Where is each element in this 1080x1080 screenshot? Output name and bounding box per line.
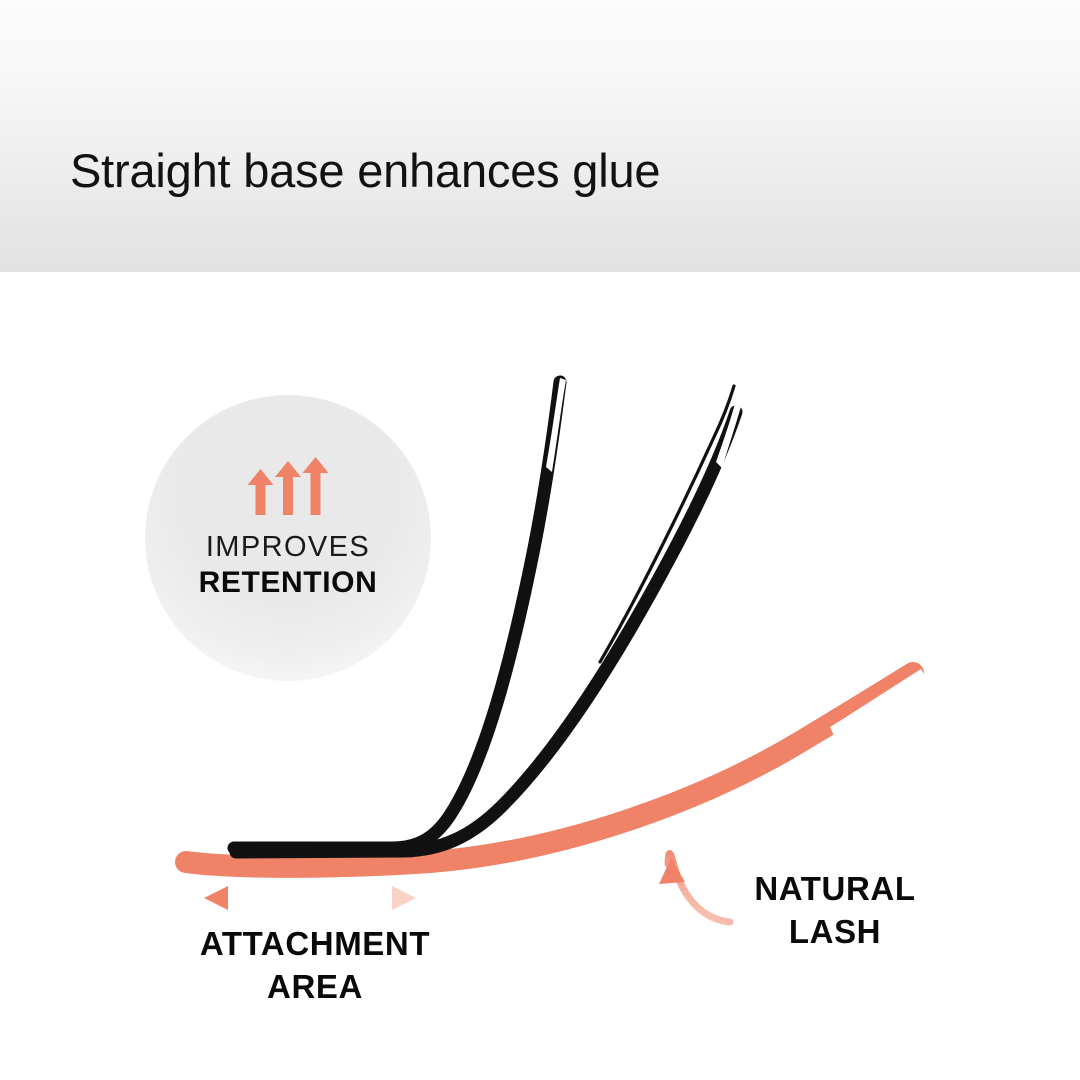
headline-line1: Straight base enhances glue <box>70 144 660 197</box>
attachment-area-label: ATTACHMENT AREA <box>120 922 510 1008</box>
infographic-canvas: Straight base enhances glue attachment f… <box>0 0 1080 1080</box>
extension-lash-right <box>236 386 743 852</box>
natural-label-line2: LASH <box>705 910 965 953</box>
natural-lash-label: NATURAL LASH <box>705 867 965 953</box>
header-band: Straight base enhances glue attachment f… <box>0 0 1080 272</box>
double-headed-arrow-icon <box>204 886 416 910</box>
attachment-label-line2: AREA <box>120 965 510 1008</box>
diagram-stage: IMPROVES RETENTION <box>0 272 1080 1080</box>
natural-lash-line <box>186 673 916 867</box>
extension-lash-left <box>234 378 566 848</box>
natural-label-line1: NATURAL <box>705 867 965 910</box>
attachment-label-line1: ATTACHMENT <box>120 922 510 965</box>
